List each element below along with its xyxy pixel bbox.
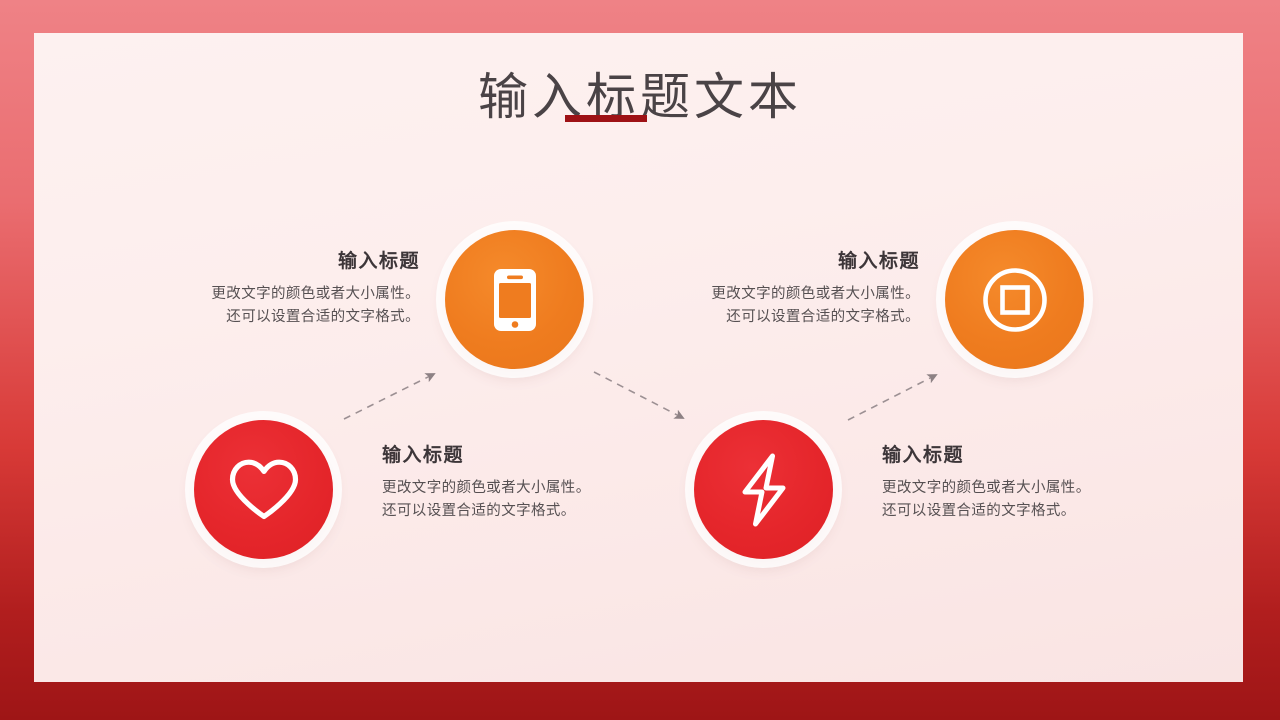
text-block-top-left: 输入标题 更改文字的颜色或者大小属性。 还可以设置合适的文字格式。 (100, 246, 420, 330)
text-block-bottom-right: 输入标题 更改文字的颜色或者大小属性。 还可以设置合适的文字格式。 (882, 440, 1202, 524)
item-body-line2: 还可以设置合适的文字格式。 (100, 306, 420, 329)
item-body-line2: 还可以设置合适的文字格式。 (882, 500, 1202, 523)
item-body-line1: 更改文字的颜色或者大小属性。 (100, 283, 420, 306)
item-body-line1: 更改文字的颜色或者大小属性。 (382, 477, 702, 500)
item-body: 更改文字的颜色或者大小属性。 还可以设置合适的文字格式。 (882, 477, 1202, 524)
item-heading: 输入标题 (382, 440, 702, 467)
icon-circle-mobile-phone[interactable] (445, 230, 584, 369)
icon-circle-stop-square[interactable] (945, 230, 1084, 369)
text-block-top-right: 输入标题 更改文字的颜色或者大小属性。 还可以设置合适的文字格式。 (600, 246, 920, 330)
item-body: 更改文字的颜色或者大小属性。 还可以设置合适的文字格式。 (600, 283, 920, 330)
item-heading: 输入标题 (100, 246, 420, 273)
title-accent-bar (565, 115, 647, 122)
text-block-bottom-left: 输入标题 更改文字的颜色或者大小属性。 还可以设置合适的文字格式。 (382, 440, 702, 524)
lightning-bolt-icon (735, 452, 793, 528)
heart-icon (226, 456, 302, 524)
item-body-line2: 还可以设置合适的文字格式。 (382, 500, 702, 523)
item-body-line2: 还可以设置合适的文字格式。 (600, 306, 920, 329)
icon-circle-heart[interactable] (194, 420, 333, 559)
item-heading: 输入标题 (600, 246, 920, 273)
item-body: 更改文字的颜色或者大小属性。 还可以设置合适的文字格式。 (382, 477, 702, 524)
slide-canvas: 输入标题文本 (0, 0, 1280, 720)
mobile-phone-icon (492, 267, 538, 333)
slide-panel (34, 33, 1243, 682)
item-body-line1: 更改文字的颜色或者大小属性。 (882, 477, 1202, 500)
item-heading: 输入标题 (882, 440, 1202, 467)
item-body: 更改文字的颜色或者大小属性。 还可以设置合适的文字格式。 (100, 283, 420, 330)
stop-square-icon (981, 266, 1049, 334)
item-body-line1: 更改文字的颜色或者大小属性。 (600, 283, 920, 306)
icon-circle-lightning-bolt[interactable] (694, 420, 833, 559)
